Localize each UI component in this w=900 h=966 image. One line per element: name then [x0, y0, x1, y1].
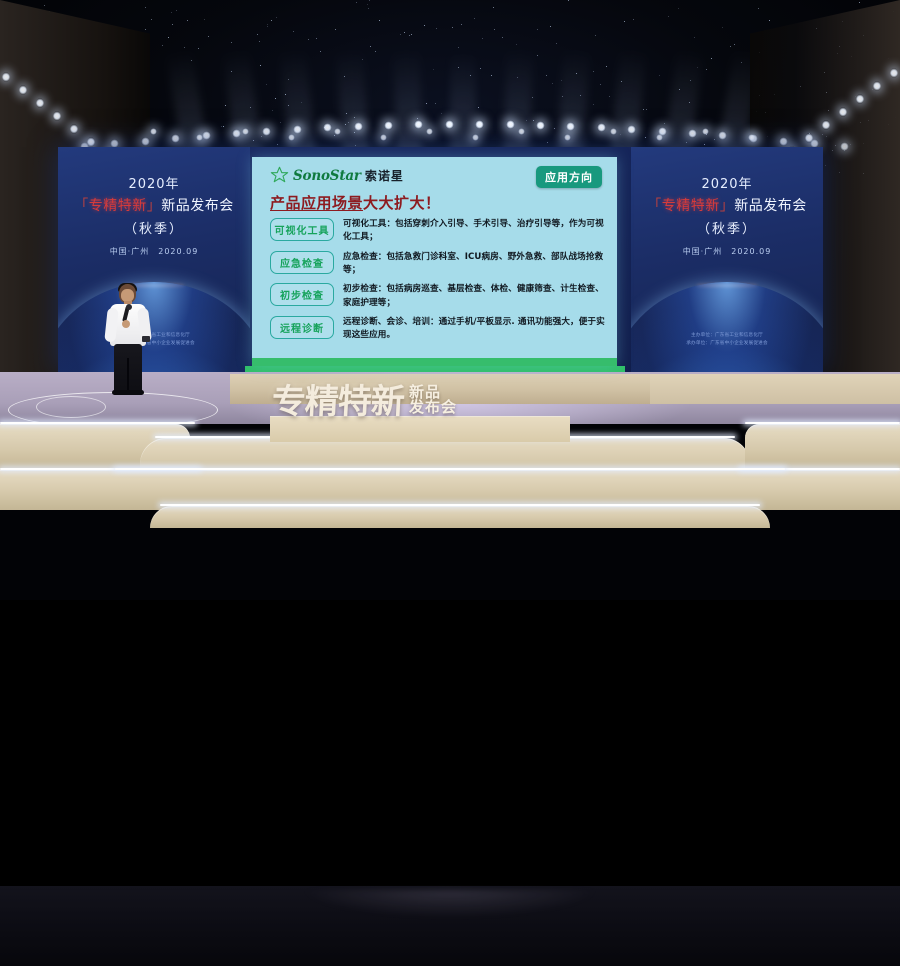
floor-reflection	[300, 890, 600, 918]
slide-row-description: 远程诊断、会诊、培训：通过手机/平板显示. 通讯功能强大，便于实现这些应用。	[343, 316, 605, 343]
right-screen-title: 「专精特新」新品发布会	[631, 195, 823, 215]
neon-edge-3	[115, 468, 785, 470]
spot-lamp-icon	[856, 94, 864, 104]
stage-step-right-1	[745, 424, 900, 470]
credit-line-2: 承办单位：广东省中小企业发展促进会	[631, 340, 823, 348]
spot-lamp-icon	[232, 129, 241, 138]
slide-content-rows: 可视化工具可视化工具：包括穿刺介入引导、手术引导、治疗引导等，作为可视化工具；应…	[252, 218, 617, 343]
right-screen-year: 2020年	[631, 173, 823, 192]
spot-lamp-icon	[779, 137, 788, 146]
sonostar-logo: SonoStar 索诺星	[270, 166, 404, 185]
slide-row-description: 应急检查：包括急救门诊科室、ICU病房、野外急救、部队战场抢救等；	[343, 251, 605, 278]
title-highlight: 专精特新	[89, 198, 147, 214]
spot-lamp-icon	[506, 120, 515, 129]
presentation-slide: SonoStar 索诺星 应用方向 产品应用场景大大扩大！ 可视化工具可视化工具…	[252, 157, 617, 366]
spot-lamp-icon	[380, 134, 387, 141]
stage-letters-sub-bottom: 发布会	[409, 400, 457, 415]
spot-lamp-icon	[196, 134, 203, 141]
bracket-open: 「	[647, 198, 662, 214]
slide-title: 产品应用场景大大扩大！	[270, 192, 617, 213]
stage-letters-main: 专精特新	[271, 374, 406, 423]
speaker-person	[100, 284, 156, 394]
spot-lamp-icon	[840, 142, 849, 151]
spot-lamp-icon	[564, 134, 571, 141]
right-screen-season: （秋季）	[631, 218, 823, 237]
spot-lamp-icon	[2, 72, 10, 82]
spot-lamp-icon	[748, 134, 755, 141]
spot-lamp-icon	[873, 81, 881, 91]
slide-bottom-bar	[252, 358, 617, 366]
title-rest: 新品发布会	[734, 198, 807, 214]
right-screen-poster: 2020年 「专精特新」新品发布会 （秋季） 中国·广州 2020.09 主办单…	[631, 147, 823, 372]
spot-lamp-icon	[688, 129, 697, 138]
speaker-clicker-device	[142, 336, 150, 342]
spot-lamp-icon	[354, 122, 363, 131]
left-screen-city-date: 中国·广州 2020.09	[58, 246, 250, 257]
credit-line-1: 主办单位：广东省工业和信息化厅	[631, 332, 823, 340]
spot-lamp-icon	[242, 128, 249, 135]
horizon-glint	[697, 284, 757, 287]
spot-lamp-icon	[518, 128, 525, 135]
slide-row-description: 初步检查：包括病房巡查、基层检查、体检、健康筛查、计生检查、家庭护理等；	[343, 283, 605, 310]
spot-lamp-icon	[288, 134, 295, 141]
neon-edge-right-1	[745, 422, 900, 424]
right-screen-credits: 主办单位：广东省工业和信息化厅 承办单位：广东省中小企业发展促进会	[631, 332, 823, 348]
spot-lamp-icon	[822, 120, 830, 130]
spot-lamp-icon	[334, 128, 341, 135]
spot-lamp-icon	[87, 137, 95, 147]
title-rest: 新品发布会	[161, 198, 234, 214]
spot-lamp-icon	[445, 120, 454, 129]
spot-lamp-icon	[656, 134, 663, 141]
slide-row-description: 可视化工具：包括穿刺介入引导、手术引导、治疗引导等，作为可视化工具；	[343, 218, 605, 245]
spot-lamp-icon	[150, 128, 157, 135]
slide-row-tag: 可视化工具	[270, 218, 334, 241]
spot-lamp-icon	[890, 68, 898, 78]
floor-circle-marking-inner	[36, 396, 106, 418]
logo-text-cn: 索诺星	[365, 167, 404, 184]
spot-lamp-icon	[384, 121, 393, 130]
spot-lamp-icon	[472, 134, 479, 141]
spot-lamp-icon	[141, 137, 150, 146]
microphone-head	[126, 304, 132, 310]
slide-title-rest: 大大扩大！	[363, 194, 441, 212]
star-icon	[270, 166, 289, 185]
left-screen-season: （秋季）	[58, 218, 250, 237]
speaker-shoes	[112, 390, 144, 395]
right-screen-city-date: 中国·广州 2020.09	[631, 246, 823, 257]
slide-row: 可视化工具可视化工具：包括穿刺介入引导、手术引导、治疗引导等，作为可视化工具；	[270, 218, 605, 245]
spot-lamp-icon	[53, 111, 61, 121]
left-screen-year: 2020年	[58, 173, 250, 192]
spot-lamp-icon	[536, 121, 545, 130]
spot-lamp-icon	[36, 98, 44, 108]
title-highlight: 专精特新	[662, 198, 720, 214]
spot-lamp-icon	[19, 85, 27, 95]
bracket-close: 」	[720, 198, 735, 214]
bracket-open: 「	[74, 198, 89, 214]
bracket-close: 」	[147, 198, 162, 214]
slide-header: SonoStar 索诺星 应用方向	[252, 157, 617, 191]
slide-title-underlined: 产品应用场景	[270, 194, 363, 212]
slide-row-tag: 远程诊断	[270, 316, 334, 339]
neon-edge-left-1	[0, 422, 195, 424]
slide-row: 应急检查应急检查：包括急救门诊科室、ICU病房、野外急救、部队战场抢救等；	[270, 251, 605, 278]
slide-row-tag: 应急检查	[270, 251, 334, 274]
left-screen-title: 「专精特新」新品发布会	[58, 195, 250, 215]
stage-step-4	[150, 506, 770, 528]
logo-text-en: SonoStar	[293, 168, 361, 184]
spot-lamp-icon	[805, 133, 813, 143]
speaker-hand	[122, 320, 130, 328]
speaker-leg-gap	[127, 358, 129, 394]
spot-lamp-icon	[70, 124, 78, 134]
stage-riser-right	[650, 374, 900, 404]
slide-row-tag: 初步检查	[270, 283, 334, 306]
slide-row: 初步检查初步检查：包括病房巡查、基层检查、体检、健康筛查、计生检查、家庭护理等；	[270, 283, 605, 310]
section-badge: 应用方向	[536, 166, 602, 188]
spot-lamp-icon	[702, 128, 709, 135]
spot-lamp-icon	[839, 107, 847, 117]
neon-edge-4	[160, 504, 760, 506]
stage-letters-sub: 新品 发布会	[409, 385, 457, 415]
spot-lamp-icon	[293, 125, 302, 134]
stage-step-right-2	[740, 470, 900, 510]
spot-lamp-icon	[610, 128, 617, 135]
slide-row: 远程诊断远程诊断、会诊、培训：通过手机/平板显示. 通讯功能强大，便于实现这些应…	[270, 316, 605, 343]
spot-lamp-icon	[426, 128, 433, 135]
stage-3d-letters: 专精特新 新品 发布会	[272, 374, 602, 422]
